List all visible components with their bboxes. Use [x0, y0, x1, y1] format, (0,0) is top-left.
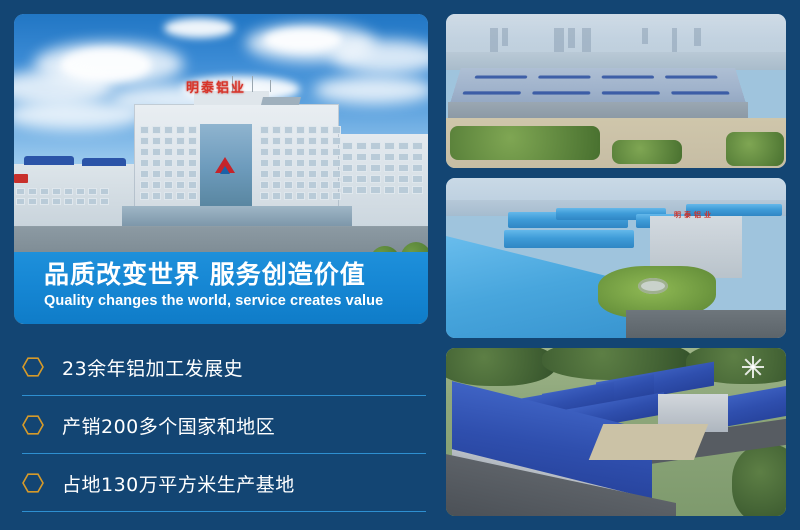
entrance-podium: [122, 206, 352, 226]
sun-flare-icon: [742, 356, 764, 378]
hero-photo: 明泰铝业: [14, 14, 428, 324]
fountain: [638, 278, 668, 294]
slogan-headline-cn: 品质改变世界 服务创造价值: [44, 261, 428, 290]
hexagon-icon: [22, 356, 44, 378]
list-item-label: 产销200多个国家和地区: [62, 412, 275, 439]
left-column: 明泰铝业: [14, 14, 428, 516]
divider: [22, 511, 426, 512]
list-item-label: 23余年铝加工发展史: [62, 354, 243, 381]
blue-roof-factory-campus-photo[interactable]: 明泰铝业: [446, 178, 786, 338]
window-grid: [260, 126, 341, 200]
window-grid: [342, 142, 423, 194]
list-item[interactable]: 占地130万平方米生产基地: [14, 454, 428, 512]
list-item-label: 占地130万平方米生产基地: [62, 470, 295, 497]
company-logo-icon: [215, 157, 235, 173]
highlights-list: 23余年铝加工发展史 产销200多个国家和地区 占地130万: [14, 338, 428, 512]
right-column: 明泰铝业: [446, 14, 786, 516]
list-item[interactable]: 产销200多个国家和地区: [14, 396, 428, 454]
hexagon-icon: [22, 472, 44, 494]
company-profile-poster: 明泰铝业: [0, 0, 800, 530]
industrial-park-rendering-image[interactable]: [446, 348, 786, 516]
window-grid: [140, 126, 197, 200]
glass-atrium: [200, 124, 252, 209]
building-sign: 明泰铝业: [674, 210, 714, 220]
aerial-factory-complex-photo[interactable]: [446, 14, 786, 168]
hexagon-icon: [22, 414, 44, 436]
list-item[interactable]: 23余年铝加工发展史: [14, 338, 428, 396]
window-grid: [16, 188, 109, 205]
entrance-plaza: [589, 424, 709, 460]
building-sign: 明泰铝业: [186, 77, 246, 96]
campus-road: [626, 310, 786, 338]
slogan-banner: 品质改变世界 服务创造价值 Quality changes the world,…: [14, 252, 428, 324]
slogan-subhead-en: Quality changes the world, service creat…: [44, 293, 428, 309]
